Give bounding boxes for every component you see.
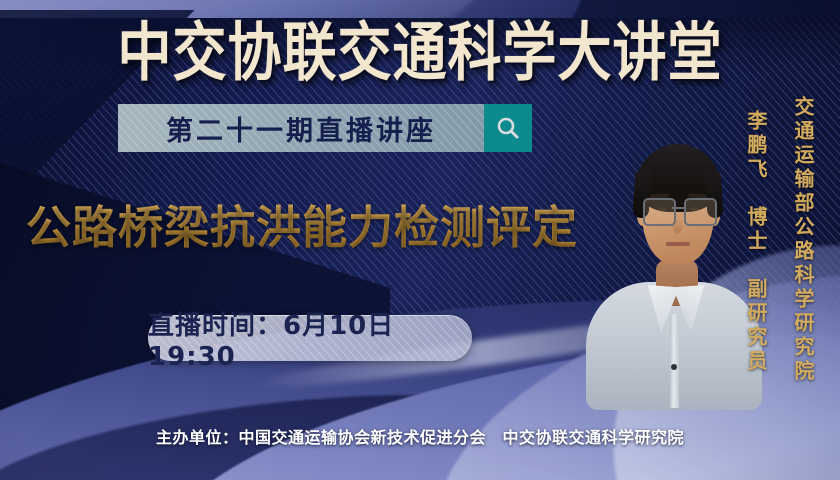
episode-label: 第二十一期直播讲座	[166, 109, 436, 148]
portrait-mouth	[666, 242, 690, 246]
speaker-name-title: 李鹏飞 博士 副研究员	[742, 110, 771, 374]
glasses-lens-left	[643, 198, 676, 226]
episode-bar: 第二十一期直播讲座	[118, 104, 532, 152]
portrait-shirt-button	[671, 364, 677, 370]
glasses-lens-right	[684, 198, 717, 226]
live-time-text: 直播时间：6月10日19:30	[148, 305, 472, 372]
lecture-title: 公路桥梁抗洪能力检测评定	[26, 202, 578, 254]
portrait-nose	[673, 218, 682, 234]
portrait-shirt-placket	[670, 314, 679, 408]
speaker-portrait	[598, 118, 748, 386]
episode-bar-fill: 第二十一期直播讲座	[118, 104, 484, 152]
search-button[interactable]	[484, 104, 532, 152]
organizer-footer: 主办单位：中国交通运输协会新技术促进分会 中交协联交通科学研究院	[0, 424, 840, 448]
glasses-bridge	[672, 207, 684, 209]
page-title: 中交协联交通科学大讲堂	[0, 20, 840, 86]
live-time-badge: 直播时间：6月10日19:30	[148, 315, 472, 361]
search-icon	[495, 115, 521, 141]
speaker-organization: 交通运输部公路科学研究院	[789, 96, 818, 384]
poster-canvas: 中交协联交通科学大讲堂 第二十一期直播讲座 公路桥梁抗洪能力检测评定 直播时间：…	[0, 0, 840, 480]
